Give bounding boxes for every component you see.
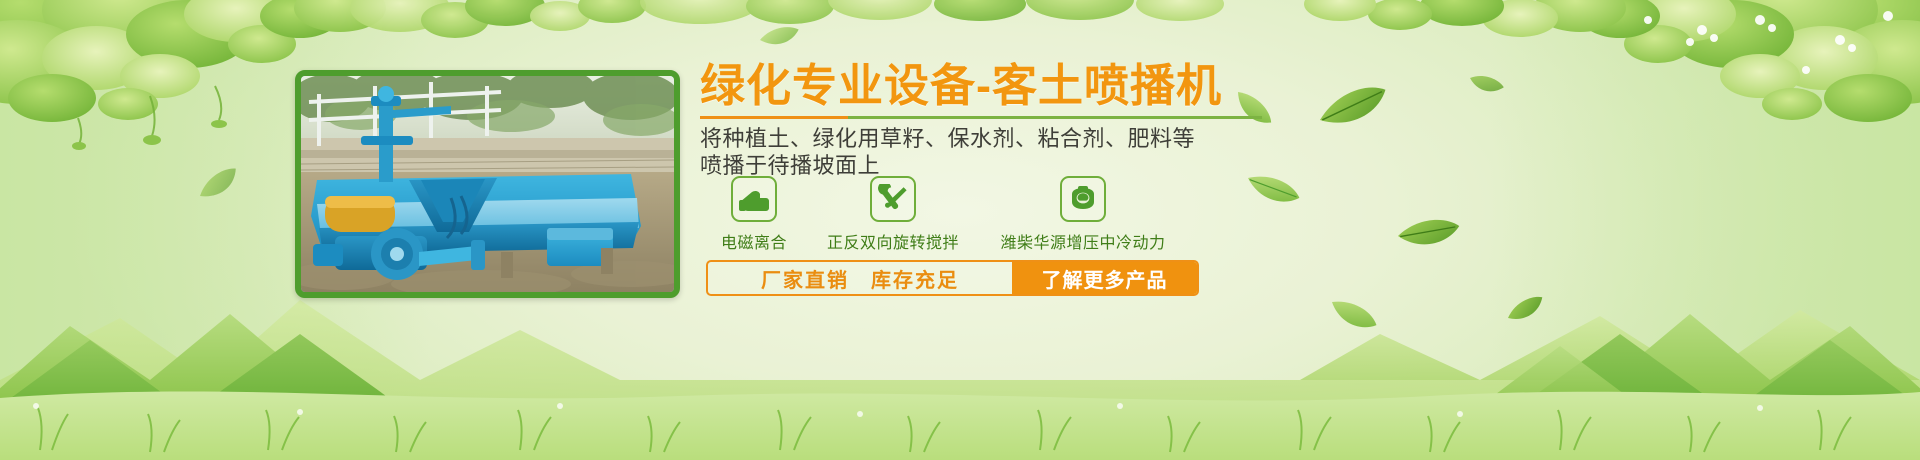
promo-banner: 绿化专业设备-客土喷播机 将种植土、绿化用草籽、保水剂、粘合剂、肥料等 喷播于待… [0,0,1920,460]
engine-power-icon [1060,176,1106,222]
feature-list: 电磁离合 正反双向旋转搅拌 潍柴华源增压中冷动力 [700,176,1260,253]
feature-icon-slot-1 [700,176,808,222]
headline-block: 绿化专业设备-客土喷播机 将种植土、绿化用草籽、保水剂、粘合剂、肥料等 喷播于待… [700,62,1300,180]
learn-more-button[interactable]: 了解更多产品 [1012,262,1197,294]
title-divider [700,116,1262,119]
feature-label-1: 电磁离合 [700,229,808,253]
cta-tagline: 厂家直销 库存充足 [708,262,1012,294]
feature-label-3: 潍柴华源增压中冷动力 [978,229,1188,253]
cta-tag-2: 库存充足 [871,264,959,293]
subtitle-line-1: 将种植土、绿化用草籽、保水剂、粘合剂、肥料等 [700,125,1300,153]
feature-label-2: 正反双向旋转搅拌 [808,229,978,253]
banner-title: 绿化专业设备-客土喷播机 [700,62,1300,111]
cta-tag-1: 厂家直销 [761,264,849,293]
banner-subtitle: 将种植土、绿化用草籽、保水剂、粘合剂、肥料等 喷播于待播坡面上 [700,125,1300,180]
feature-icon-slot-2 [808,176,978,222]
feature-icon-slot-3 [978,176,1188,222]
feature-label-row: 电磁离合 正反双向旋转搅拌 潍柴华源增压中冷动力 [700,229,1260,253]
banner-content: 绿化专业设备-客土喷播机 将种植土、绿化用草籽、保水剂、粘合剂、肥料等 喷播于待… [0,0,1920,460]
feature-icon-row [700,176,1260,222]
cta-bar: 厂家直销 库存充足 了解更多产品 [706,260,1199,296]
wrench-screwdriver-icon [870,176,916,222]
product-photo [301,76,674,292]
divider-green-segment [848,116,1262,119]
clutch-hand-icon [731,176,777,222]
product-photo-card[interactable] [295,70,680,298]
divider-orange-segment [700,116,848,119]
